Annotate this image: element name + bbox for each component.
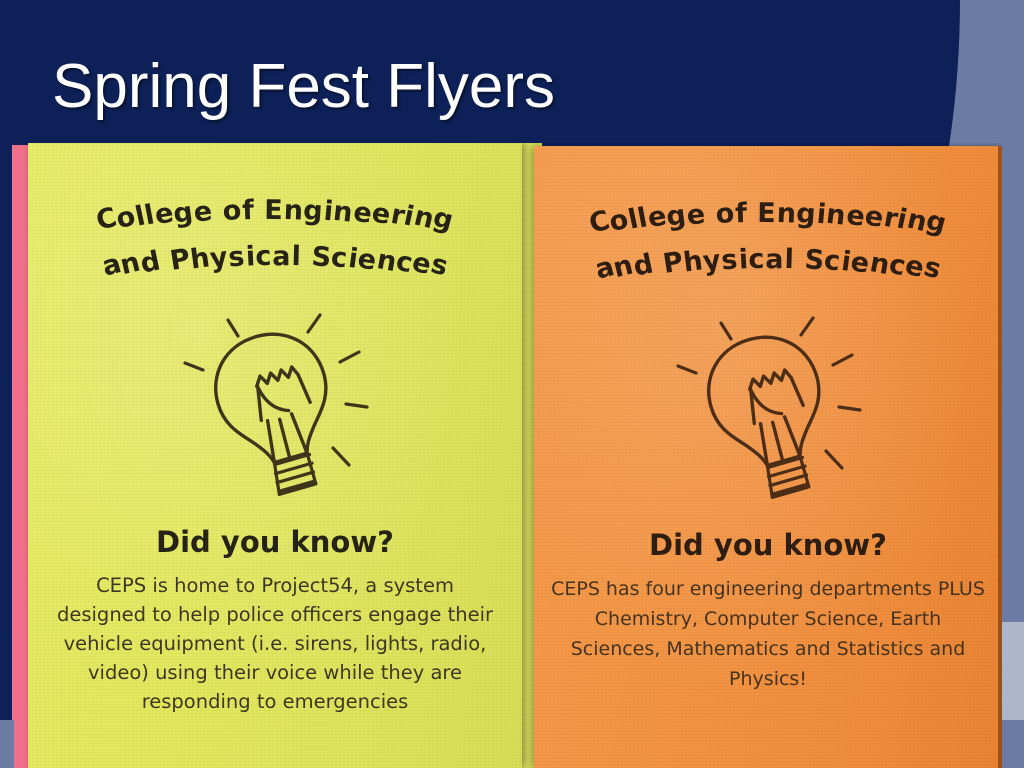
flyer-orange-heading-line2: and Physical Sciences <box>534 244 1002 275</box>
flyer-orange-body: CEPS has four engineering departments PL… <box>548 574 988 694</box>
flyer-yellow: College of Engineering and Physical Scie… <box>28 143 522 768</box>
flyer-yellow-heading-line2: and Physical Sciences <box>28 241 522 272</box>
flyer-yellow-heading-line1: College of Engineering <box>28 195 522 226</box>
flyer-orange: College of Engineering and Physical Scie… <box>534 146 1002 768</box>
lightbulb-icon <box>170 308 380 498</box>
lightbulb-icon <box>663 311 873 501</box>
flyer-orange-heading-line1: College of Engineering <box>534 198 1002 229</box>
flyer-yellow-body: CEPS is home to Project54, a system desi… <box>50 571 500 716</box>
flyers-photo: p l / ~ \ r a o al College of Engineerin… <box>12 143 1002 768</box>
presentation-slide: Spring Fest Flyers p l / ~ \ r a o al Co… <box>0 0 1024 768</box>
background-corner-slate <box>0 720 14 768</box>
slide-title: Spring Fest Flyers <box>52 56 555 118</box>
flyer-yellow-subheading: Did you know? <box>28 525 522 559</box>
flyer-orange-subheading: Did you know? <box>534 528 1002 562</box>
